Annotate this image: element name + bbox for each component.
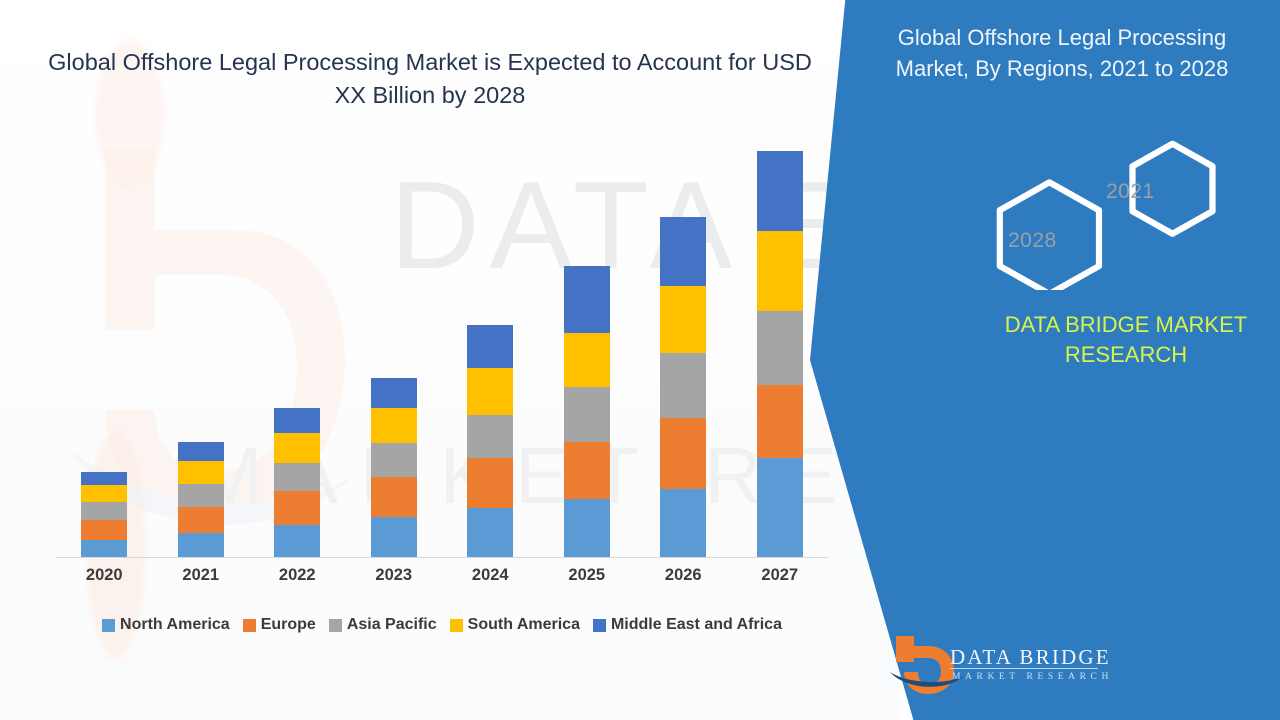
bar-slot bbox=[635, 150, 732, 558]
stacked-bar[interactable] bbox=[274, 408, 320, 558]
bar-segment[interactable] bbox=[467, 325, 513, 368]
legend-swatch-icon bbox=[243, 619, 256, 632]
bar-segment[interactable] bbox=[178, 533, 224, 558]
legend-swatch-icon bbox=[102, 619, 115, 632]
hexagon-label-2028: 2028 bbox=[1008, 229, 1057, 253]
bar-segment[interactable] bbox=[81, 472, 127, 485]
bar-segment[interactable] bbox=[467, 415, 513, 458]
bar-segment[interactable] bbox=[757, 385, 803, 458]
hexagon-outlines-icon bbox=[975, 125, 1225, 290]
stacked-bar-chart bbox=[56, 150, 828, 558]
legend-swatch-icon bbox=[329, 619, 342, 632]
bar-segment[interactable] bbox=[371, 408, 417, 442]
legend-label: Asia Pacific bbox=[347, 616, 437, 634]
stacked-bar[interactable] bbox=[757, 151, 803, 558]
bar-segment[interactable] bbox=[178, 442, 224, 461]
bar-segment[interactable] bbox=[660, 489, 706, 558]
bar-slot bbox=[56, 150, 153, 558]
bar-segment[interactable] bbox=[564, 499, 610, 558]
bar-segment[interactable] bbox=[467, 458, 513, 508]
stacked-bar[interactable] bbox=[178, 442, 224, 558]
x-axis-line bbox=[56, 557, 828, 558]
bar-segment[interactable] bbox=[178, 461, 224, 484]
legend-label: Europe bbox=[261, 616, 316, 634]
bar-segment[interactable] bbox=[564, 442, 610, 499]
bar-segment[interactable] bbox=[274, 463, 320, 491]
x-axis-label: 2025 bbox=[539, 566, 636, 585]
bar-segment[interactable] bbox=[757, 458, 803, 558]
bar-segment[interactable] bbox=[81, 520, 127, 541]
chart-legend: North AmericaEuropeAsia PacificSouth Ame… bbox=[56, 616, 828, 634]
bar-segment[interactable] bbox=[274, 433, 320, 463]
bar-segment[interactable] bbox=[81, 540, 127, 558]
legend-label: South America bbox=[468, 616, 580, 634]
infographic-slide: DATA BRIDGE MARKET RESEARCH Global Offsh… bbox=[0, 0, 1280, 720]
legend-item[interactable]: Asia Pacific bbox=[329, 616, 437, 634]
x-axis-label: 2024 bbox=[442, 566, 539, 585]
bar-segment[interactable] bbox=[564, 266, 610, 333]
bar-segment[interactable] bbox=[757, 231, 803, 311]
bar-segment[interactable] bbox=[660, 418, 706, 489]
legend-item[interactable]: Middle East and Africa bbox=[593, 616, 782, 634]
bar-slot bbox=[249, 150, 346, 558]
bar-segment[interactable] bbox=[467, 508, 513, 558]
bar-slot bbox=[346, 150, 443, 558]
brand-name-text: DATA BRIDGE MARKET RESEARCH bbox=[988, 310, 1264, 371]
legend-item[interactable]: North America bbox=[102, 616, 230, 634]
stacked-bar[interactable] bbox=[660, 217, 706, 558]
bar-segment[interactable] bbox=[371, 517, 417, 558]
hexagon-label-2021: 2021 bbox=[1106, 180, 1155, 204]
legend-label: North America bbox=[120, 616, 230, 634]
stacked-bar[interactable] bbox=[81, 472, 127, 558]
stacked-bar[interactable] bbox=[467, 325, 513, 558]
hexagon-group: 2021 2028 bbox=[975, 125, 1225, 290]
bar-segment[interactable] bbox=[660, 353, 706, 417]
stacked-bar[interactable] bbox=[564, 266, 610, 558]
bar-segment[interactable] bbox=[178, 484, 224, 507]
bar-segment[interactable] bbox=[371, 378, 417, 409]
legend-swatch-icon bbox=[593, 619, 606, 632]
x-axis-label: 2023 bbox=[346, 566, 443, 585]
bar-segment[interactable] bbox=[660, 286, 706, 353]
bar-segment[interactable] bbox=[274, 491, 320, 525]
x-axis-label: 2020 bbox=[56, 566, 153, 585]
bar-segment[interactable] bbox=[274, 525, 320, 558]
bar-segment[interactable] bbox=[564, 387, 610, 442]
bar-segment[interactable] bbox=[81, 485, 127, 502]
logo-name: DATA BRIDGE bbox=[950, 645, 1111, 670]
bar-segment[interactable] bbox=[178, 507, 224, 533]
stacked-bar[interactable] bbox=[371, 378, 417, 558]
legend-item[interactable]: Europe bbox=[243, 616, 316, 634]
x-axis-labels: 20202021202220232024202520262027 bbox=[56, 566, 828, 592]
bar-segment[interactable] bbox=[467, 368, 513, 415]
legend-swatch-icon bbox=[450, 619, 463, 632]
bar-segment[interactable] bbox=[660, 217, 706, 286]
legend-item[interactable]: South America bbox=[450, 616, 580, 634]
bar-segment[interactable] bbox=[371, 443, 417, 478]
chart-title: Global Offshore Legal Processing Market … bbox=[40, 46, 820, 113]
bar-segment[interactable] bbox=[564, 333, 610, 387]
panel-title: Global Offshore Legal Processing Market,… bbox=[862, 22, 1262, 84]
bar-slot bbox=[539, 150, 636, 558]
bar-slot bbox=[153, 150, 250, 558]
bar-segment[interactable] bbox=[274, 408, 320, 433]
logo-subtitle: MARKET RESEARCH bbox=[952, 672, 1113, 682]
x-axis-label: 2026 bbox=[635, 566, 732, 585]
legend-label: Middle East and Africa bbox=[611, 616, 782, 634]
bar-segment[interactable] bbox=[81, 502, 127, 520]
x-axis-label: 2022 bbox=[249, 566, 346, 585]
x-axis-label: 2027 bbox=[732, 566, 829, 585]
x-axis-label: 2021 bbox=[153, 566, 250, 585]
bar-segment[interactable] bbox=[757, 311, 803, 385]
bar-segment[interactable] bbox=[757, 151, 803, 231]
bar-slot bbox=[442, 150, 539, 558]
bar-segment[interactable] bbox=[371, 477, 417, 517]
